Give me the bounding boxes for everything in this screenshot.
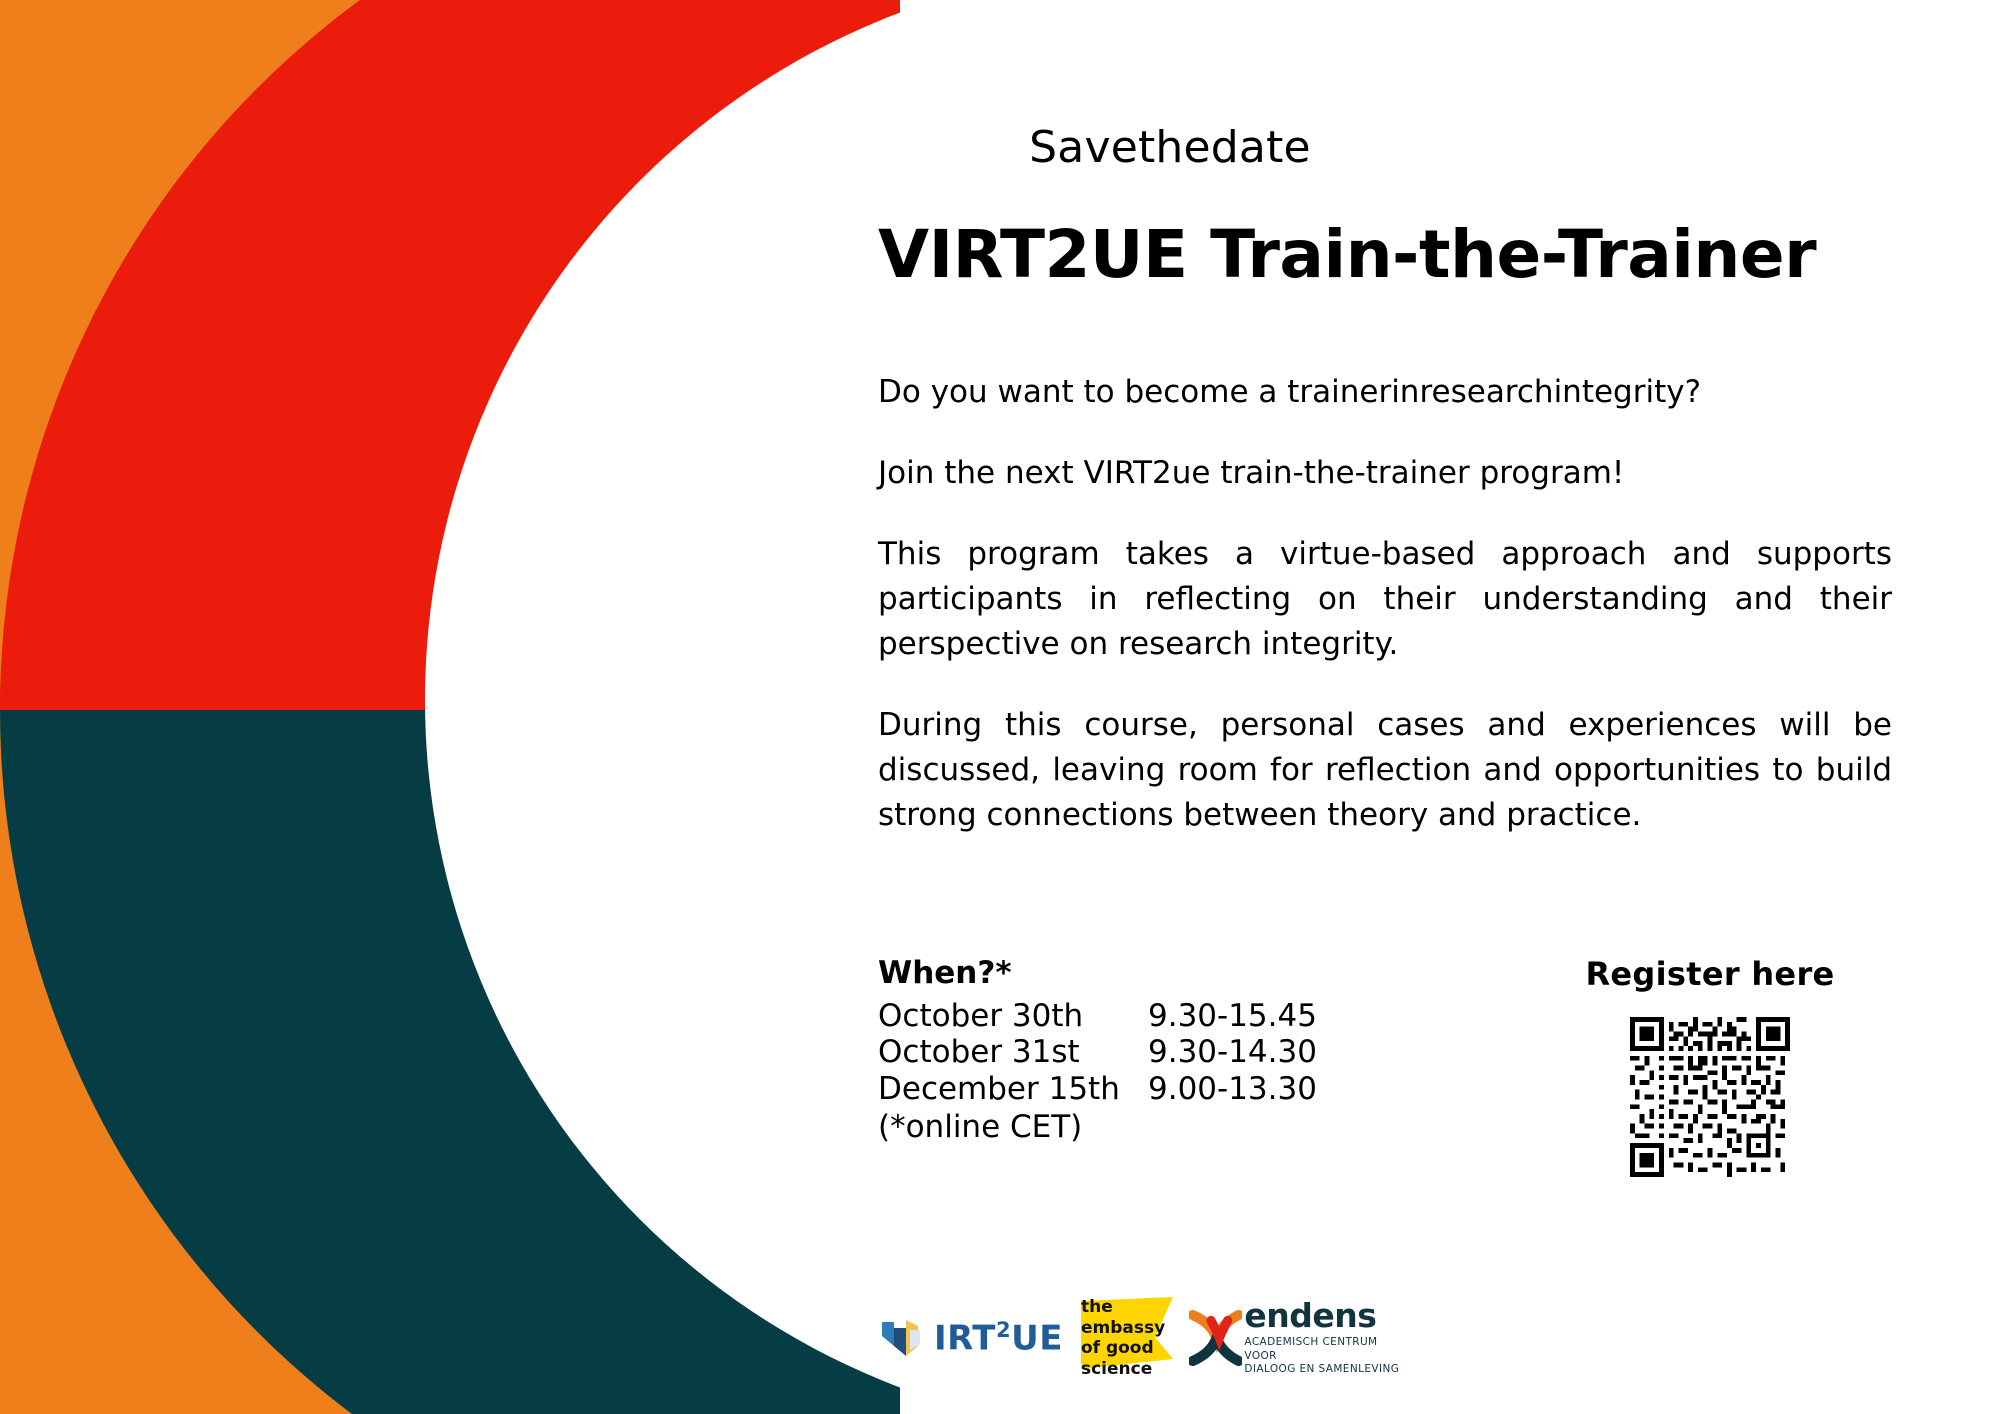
schedule-date: December 15th — [878, 1071, 1148, 1108]
xendens-subtitle-line-2: DIALOOG EN SAMENLEVING — [1244, 1363, 1400, 1377]
virt2ue-word-main: IRT — [934, 1319, 996, 1359]
embassy-line-4: science — [1081, 1359, 1165, 1380]
paragraph-intro: Do you want to become a trainerinresearc… — [878, 370, 1892, 415]
schedule-time: 9.00-13.30 — [1148, 1071, 1317, 1108]
paragraph-approach: This program takes a virtue-based approa… — [878, 532, 1892, 667]
xendens-subtitle-line-1: ACADEMISCH CENTRUM VOOR — [1244, 1336, 1400, 1363]
xendens-name: endens — [1244, 1299, 1400, 1332]
virt2ue-mark-icon — [880, 1316, 928, 1360]
table-row: October 30th 9.30-15.45 — [878, 998, 1348, 1035]
embassy-line-1: the — [1081, 1297, 1165, 1318]
xendens-mark-icon — [1189, 1307, 1242, 1369]
virt2ue-superscript: 2 — [996, 1318, 1011, 1342]
virt2ue-word-tail: UE — [1011, 1319, 1063, 1359]
virt2ue-wordmark: IRT2UE — [934, 1320, 1063, 1355]
register-label: Register here — [1560, 955, 1860, 993]
schedule-block: When?* October 30th 9.30-15.45 October 3… — [878, 955, 1348, 1146]
paragraph-join: Join the next VIRT2ue train-the-trainer … — [878, 451, 1892, 496]
qr-code-icon[interactable] — [1630, 1017, 1790, 1177]
poster-content: Savethedate VIRT2UE Train-the-Trainer Do… — [0, 0, 2000, 1414]
paragraph-course: During this course, personal cases and e… — [878, 703, 1892, 838]
xendens-logo: endens ACADEMISCH CENTRUM VOOR DIALOOG E… — [1189, 1303, 1400, 1373]
embassy-line-2: embassy — [1081, 1318, 1165, 1339]
schedule-note: (*online CET) — [878, 1109, 1348, 1146]
virt2ue-logo: IRT2UE — [880, 1312, 1063, 1364]
embassy-wordmark: the embassy of good science — [1081, 1297, 1165, 1380]
xendens-wordmark: endens ACADEMISCH CENTRUM VOOR DIALOOG E… — [1244, 1299, 1400, 1377]
table-row: October 31st 9.30-14.30 — [878, 1034, 1348, 1071]
kicker-savethedate: Savethedate — [880, 124, 1460, 172]
table-row: December 15th 9.00-13.30 — [878, 1071, 1348, 1108]
schedule-time: 9.30-14.30 — [1148, 1034, 1317, 1071]
xendens-subtitle: ACADEMISCH CENTRUM VOOR DIALOOG EN SAMEN… — [1244, 1336, 1400, 1377]
register-block: Register here — [1560, 955, 1860, 1177]
body-copy: Do you want to become a trainerinresearc… — [878, 370, 1892, 838]
page-title: VIRT2UE Train-the-Trainer — [878, 220, 1898, 289]
schedule-date: October 30th — [878, 998, 1148, 1035]
schedule-heading: When?* — [878, 955, 1348, 992]
schedule-date: October 31st — [878, 1034, 1148, 1071]
qr-wrapper — [1560, 1017, 1860, 1177]
embassy-line-3: of good — [1081, 1338, 1165, 1359]
logo-strip: IRT2UE the embassy of good science — [880, 1288, 1400, 1388]
schedule-time: 9.30-15.45 — [1148, 998, 1317, 1035]
embassy-of-good-science-logo: the embassy of good science — [1081, 1297, 1171, 1379]
poster-canvas: Savethedate VIRT2UE Train-the-Trainer Do… — [0, 0, 2000, 1414]
